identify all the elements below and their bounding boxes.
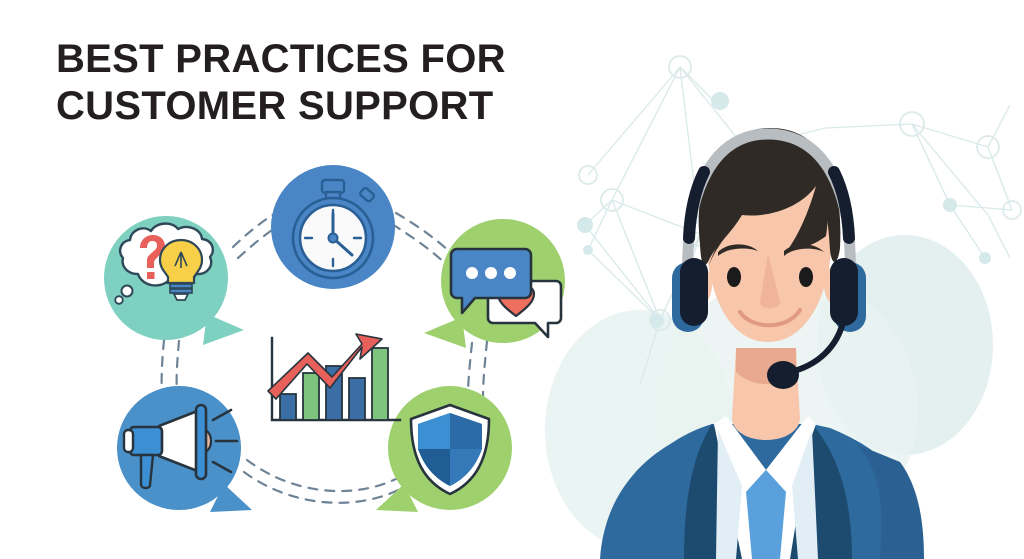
chart-bar-5 (372, 348, 388, 420)
node-ideas[interactable] (104, 216, 244, 345)
chart-bar-1 (280, 394, 296, 420)
connector-speed-to-comm (396, 213, 454, 256)
node-speed[interactable] (271, 165, 395, 289)
chart-bar-4 (349, 378, 365, 420)
chart-bar-2 (303, 373, 319, 420)
page-title: BEST PRACTICES FOR CUSTOMER SUPPORT (56, 36, 526, 130)
node-security[interactable] (376, 386, 512, 512)
connector-speed-to-comm-b (392, 224, 450, 268)
connector-comm-to-security-b (483, 341, 487, 398)
growth-chart-icon (268, 334, 400, 420)
connector-outreach-to-security (247, 460, 414, 491)
node-communication[interactable] (424, 219, 565, 348)
communication-bubble-tail (424, 317, 466, 348)
node-outreach[interactable] (117, 386, 252, 512)
page-title-line-2: CUSTOMER SUPPORT (56, 83, 526, 130)
ideas-bubble-tail (203, 314, 244, 345)
illustration-canvas: BEST PRACTICES FOR CUSTOMER SUPPORT (0, 0, 1024, 559)
page-title-line-1: BEST PRACTICES FOR (56, 36, 526, 83)
